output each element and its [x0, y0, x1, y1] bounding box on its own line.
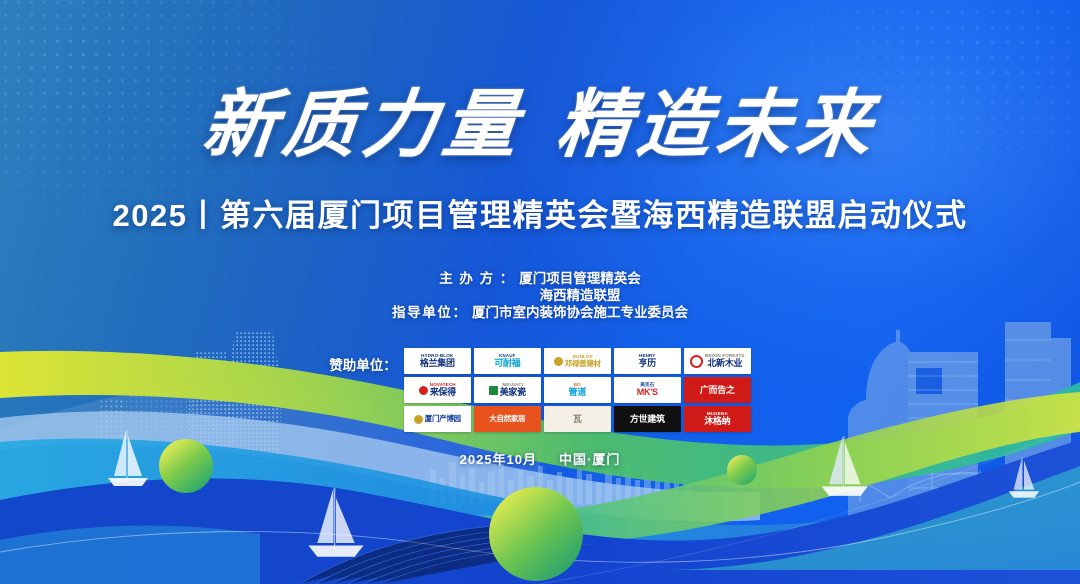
sponsor-logo-cn-3: 邓禄普建材 — [565, 360, 601, 368]
organizer-row: 主办方： 厦门项目管理精英会 — [0, 270, 1080, 287]
sponsor-logo-2: KNAUF可耐福 — [474, 348, 541, 374]
guidance-value: 厦门市室内装饰协会施工专业委员会 — [466, 304, 688, 321]
sponsor-logo-cn-5: 北新木业 — [707, 359, 742, 368]
guidance-row: 指导单位： 厦门市室内装饰协会施工专业委员会 — [0, 304, 1080, 321]
sponsor-logo-cn-4: 亨历 — [639, 359, 656, 368]
title-line-2: 精造未来 — [553, 83, 882, 166]
sponsor-logo-15: MUGENA沐格纳 — [684, 406, 751, 432]
sponsor-logo-cn-10: 广而告之 — [700, 386, 735, 395]
sponsor-logo-14: 方世建筑 — [614, 406, 681, 432]
banner-content: 新质力量精造未来 2025丨第六届厦门项目管理精英会暨海西精造联盟启动仪式 主办… — [0, 0, 1080, 584]
sponsor-logo-6: NOVATECH来保得 — [404, 377, 471, 403]
organizer-value-2: 海西精造联盟 — [534, 287, 621, 304]
title-line-1: 新质力量 — [199, 83, 528, 166]
sponsor-logo-cn-12: 大自然家居 — [489, 415, 525, 423]
sponsor-logo-cn-7: 美家瓷 — [500, 388, 526, 397]
event-subtitle: 2025丨第六届厦门项目管理精英会暨海西精造联盟启动仪式 — [0, 190, 1080, 235]
page-title: 新质力量精造未来 — [0, 88, 1080, 162]
sponsor-logo-12: 大自然家居 — [474, 406, 541, 432]
sponsor-logo-cn-8: 管道 — [569, 388, 586, 397]
sponsor-logo-7: MEIJIACI美家瓷 — [474, 377, 541, 403]
sponsor-logo-cn-14: 方世建筑 — [630, 415, 665, 424]
sponsor-logo-10: 广而告之 — [684, 377, 751, 403]
sponsor-logo-3: DUNLOP邓禄普建材 — [544, 348, 611, 374]
dot-red-icon — [419, 386, 428, 395]
sponsor-logo-11: 厦门产博园 — [404, 406, 471, 432]
sponsor-logo-cn-15: 沐格纳 — [704, 417, 730, 426]
organizer-row-secondary: 海西精造联盟 — [0, 287, 1080, 304]
sponsor-label: 赞助单位： — [329, 348, 397, 432]
sponsor-logo-grid: HYDRO-BLOK格兰集团KNAUF可耐福DUNLOP邓禄普建材HENRY亨历… — [404, 348, 751, 432]
sponsor-logo-13: 瓦 — [544, 406, 611, 432]
sponsor-logo-5: BEIXIN FORESTS北新木业 — [684, 348, 751, 374]
organizer-label: 主办方： — [439, 270, 513, 287]
sponsor-logo-4: HENRY亨历 — [614, 348, 681, 374]
ring-red-icon — [690, 355, 703, 368]
event-date: 2025年10月 — [460, 452, 537, 467]
sponsor-logo-8: BO管道 — [544, 377, 611, 403]
sponsor-section: 赞助单位： HYDRO-BLOK格兰集团KNAUF可耐福DUNLOP邓禄普建材H… — [0, 348, 1080, 432]
dot-gold-icon — [414, 415, 423, 424]
sponsor-logo-1: HYDRO-BLOK格兰集团 — [404, 348, 471, 374]
sponsor-logo-cn-9: MK'S — [637, 388, 658, 397]
guidance-label: 指导单位： — [392, 304, 466, 321]
house-green-icon — [489, 386, 498, 395]
sponsor-logo-cn-13: 瓦 — [573, 415, 582, 424]
event-location: 中国·厦门 — [559, 452, 620, 467]
organizer-block: 主办方： 厦门项目管理精英会 海西精造联盟 指导单位： 厦门市室内装饰协会施工专… — [0, 270, 1080, 321]
event-banner: 新质力量精造未来 2025丨第六届厦门项目管理精英会暨海西精造联盟启动仪式 主办… — [0, 0, 1080, 584]
sponsor-logo-cn-2: 可耐福 — [494, 359, 520, 368]
sponsor-logo-cn-6: 来保得 — [430, 388, 456, 397]
sponsor-logo-cn-11: 厦门产博园 — [425, 415, 461, 423]
sponsor-logo-9: 美克石MK'S — [614, 377, 681, 403]
organizer-label-spacer — [460, 287, 534, 304]
sponsor-logo-cn-1: 格兰集团 — [420, 359, 455, 368]
event-footer: 2025年10月中国·厦门 — [0, 449, 1080, 468]
organizer-value-1: 厦门项目管理精英会 — [513, 270, 641, 287]
dot-gold-icon — [554, 357, 563, 366]
